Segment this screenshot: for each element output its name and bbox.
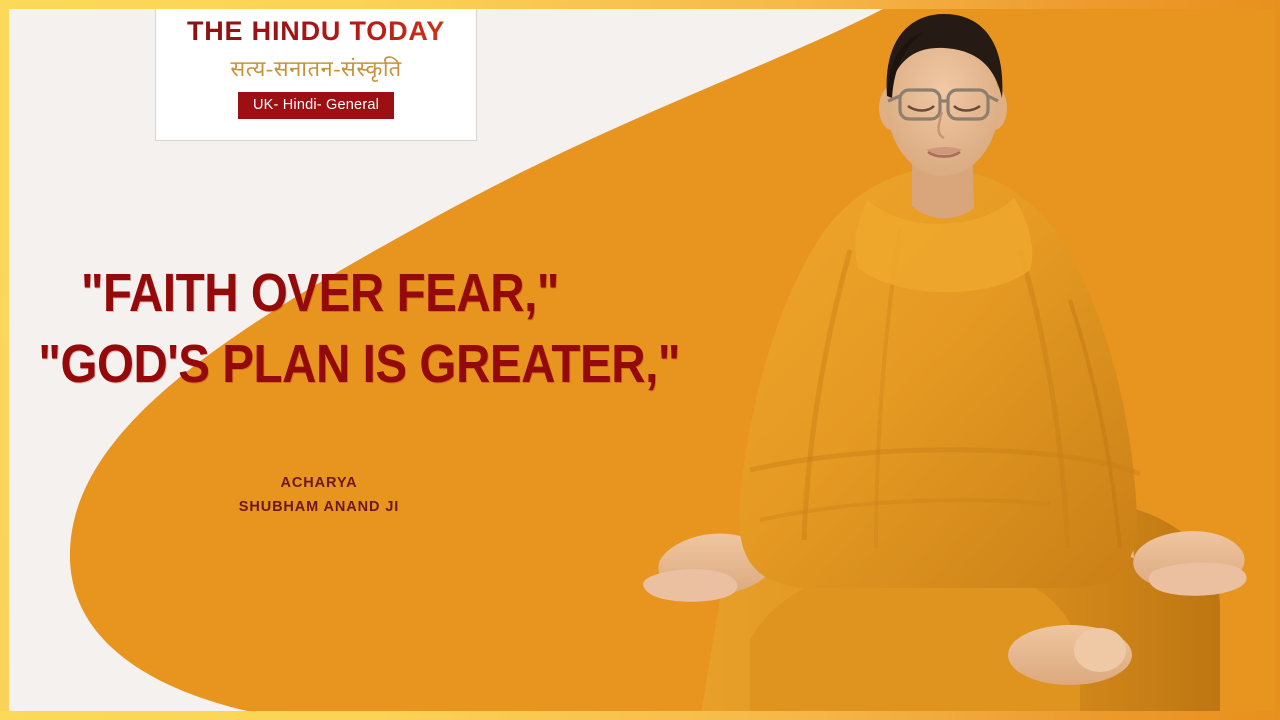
quote-line-1: "FAITH OVER FEAR," bbox=[38, 258, 601, 329]
logo-title: THE HINDU TODAY bbox=[187, 16, 445, 47]
quote-block: "FAITH OVER FEAR," "GOD'S PLAN IS GREATE… bbox=[0, 258, 640, 401]
attribution-name: SHUBHAM ANAND JI bbox=[0, 496, 638, 520]
attribution-title: ACHARYA bbox=[0, 472, 638, 496]
attribution-block: ACHARYA SHUBHAM ANAND JI bbox=[0, 472, 638, 520]
logo-card: THE HINDU TODAY सत्य-सनातन-संस्कृति UK- … bbox=[155, 0, 477, 141]
frame-top-border bbox=[0, 0, 1280, 9]
logo-category-badge: UK- Hindi- General bbox=[238, 92, 394, 119]
logo-subtitle-hindi: सत्य-सनातन-संस्कृति bbox=[230, 53, 401, 83]
frame-bottom-border bbox=[0, 711, 1280, 720]
frame-left-border bbox=[0, 0, 9, 720]
poster-canvas: THE HINDU TODAY सत्य-सनातन-संस्कृति UK- … bbox=[0, 0, 1280, 720]
frame-right-border bbox=[1275, 0, 1280, 720]
monk-portrait-image bbox=[600, 0, 1280, 720]
quote-line-2: "GOD'S PLAN IS GREATER," bbox=[38, 329, 601, 400]
